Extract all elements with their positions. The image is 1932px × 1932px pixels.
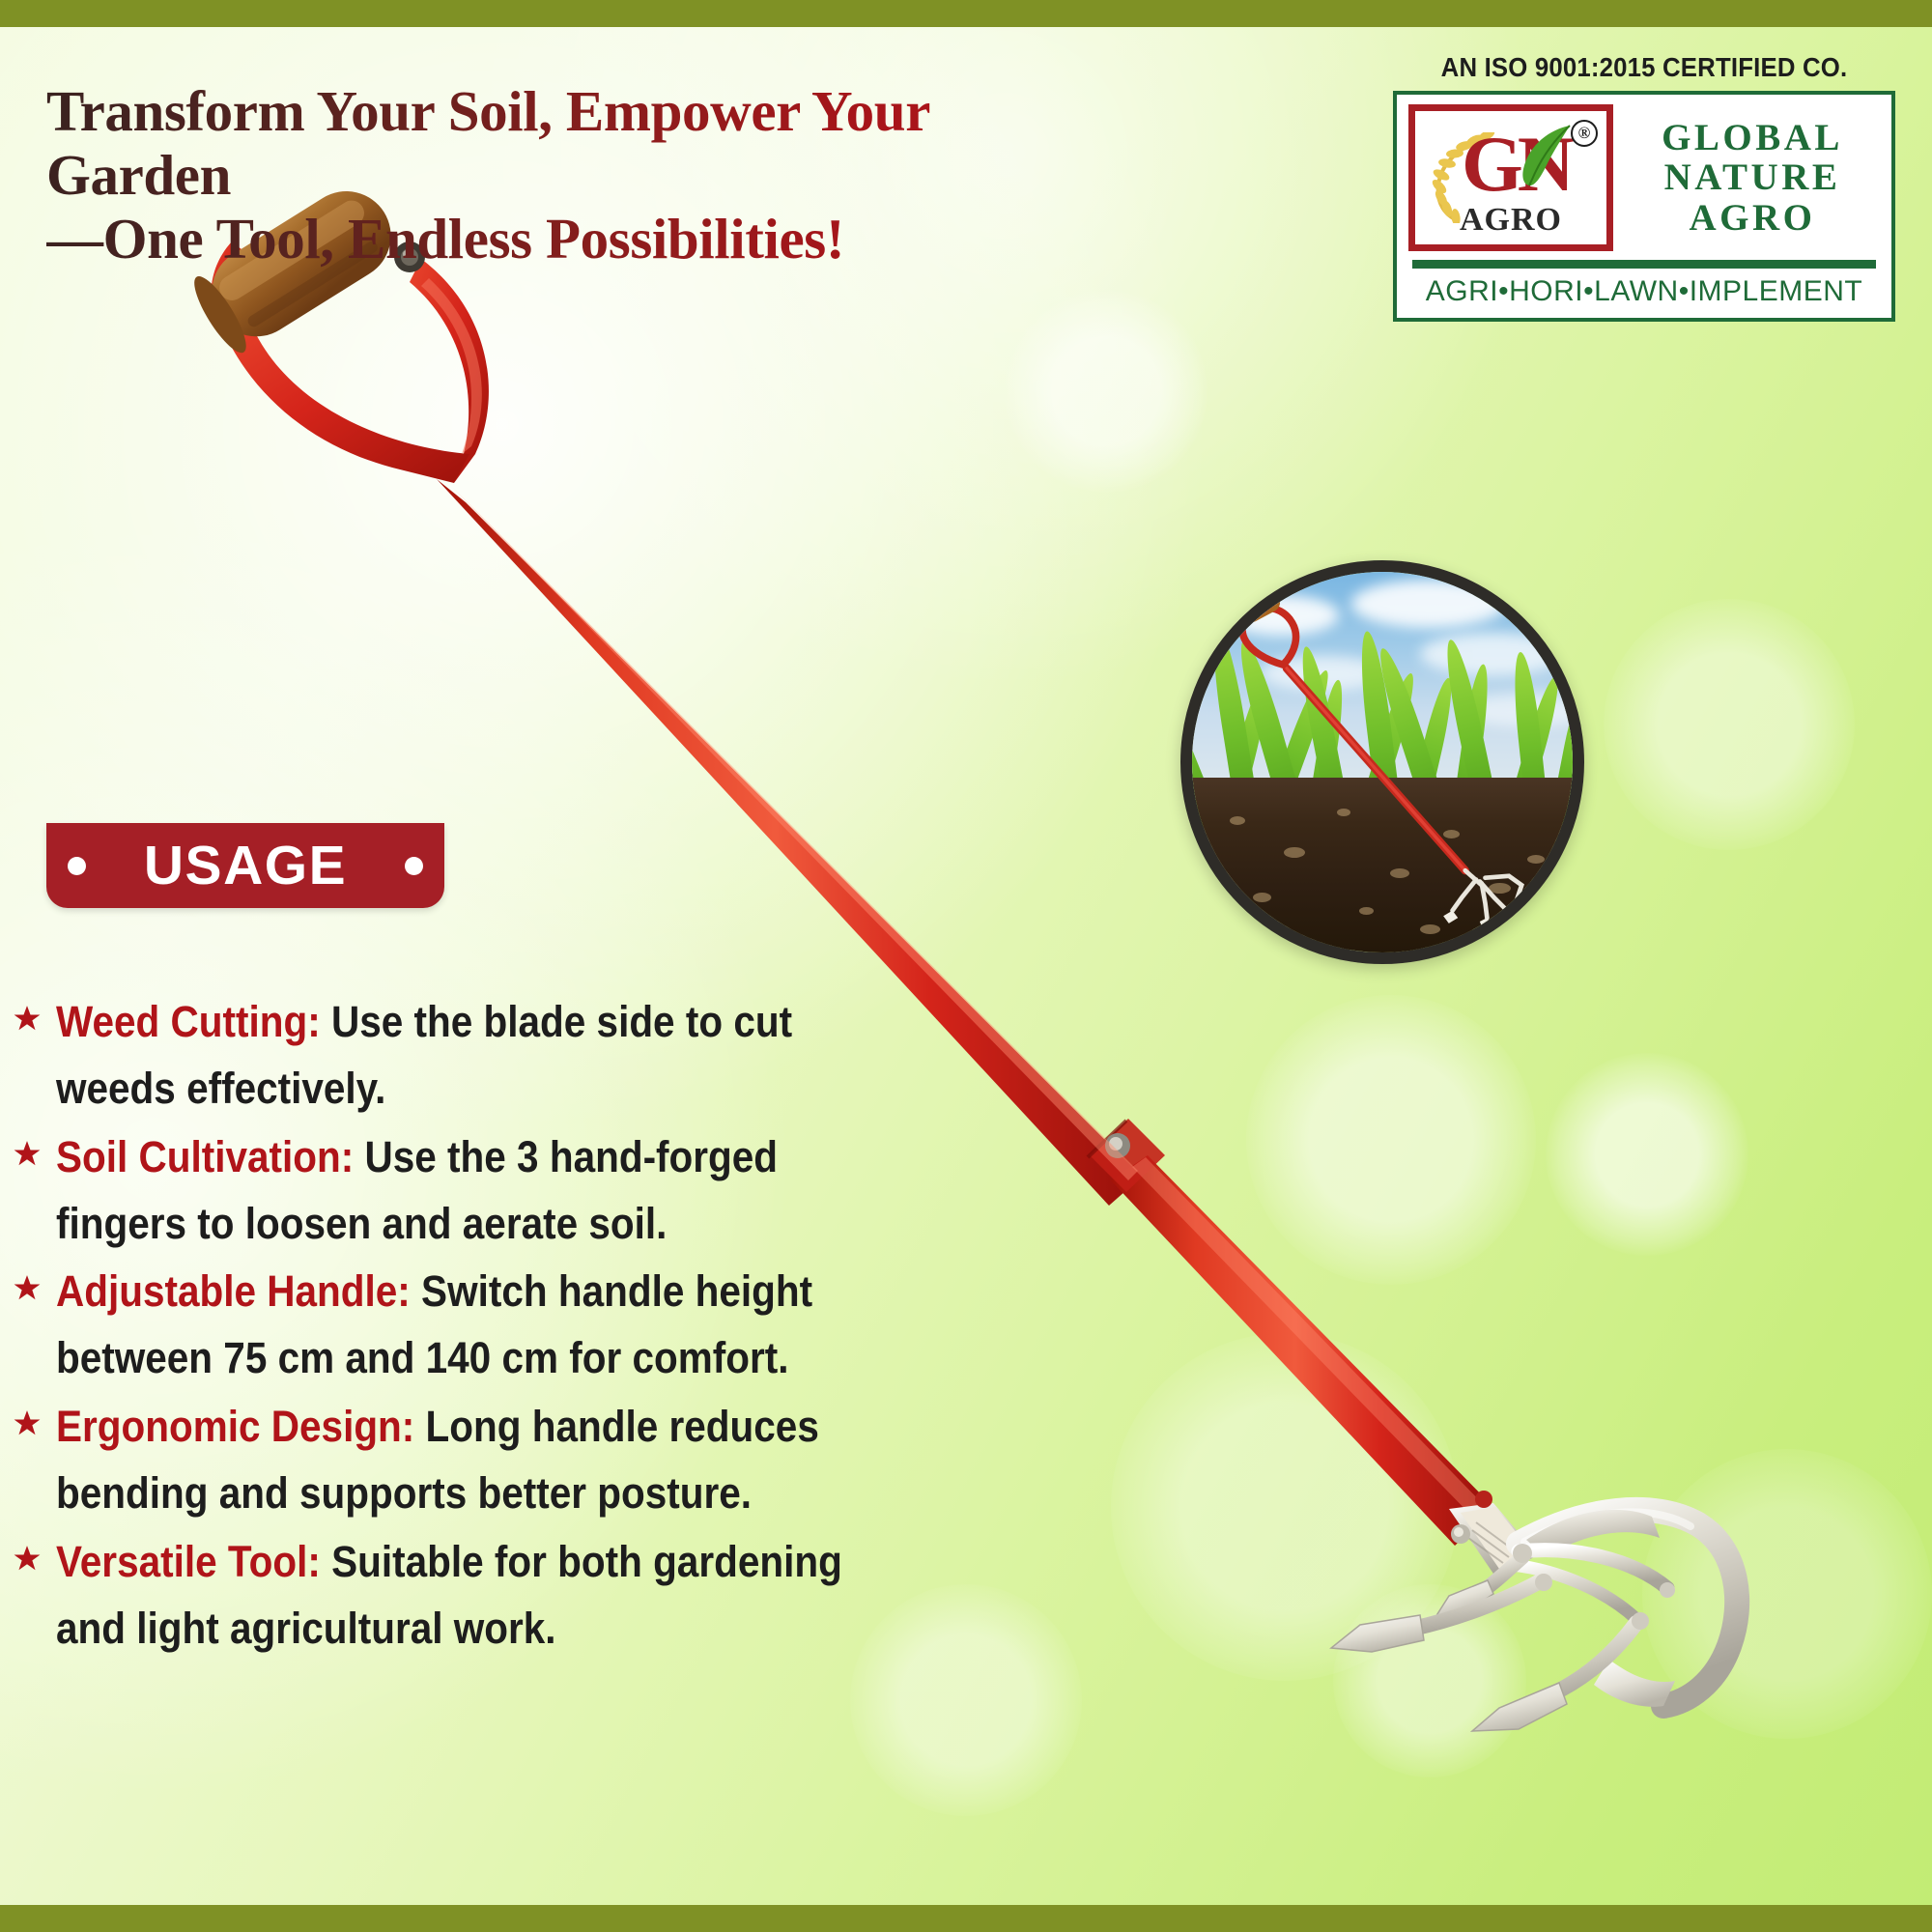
- usage-banner-label: USAGE: [144, 834, 347, 897]
- brand-line-2: NATURE: [1625, 157, 1880, 197]
- bokeh-circle: [1642, 1449, 1932, 1739]
- list-item: Ergonomic Design: Long handle reduces be…: [14, 1394, 1013, 1527]
- headline-line-2: —One Tool, Endless Possibilities!: [46, 207, 1099, 270]
- banner-dot-icon: [68, 857, 86, 875]
- list-item: Soil Cultivation: Use the 3 hand-forged …: [14, 1124, 1013, 1258]
- list-item: Versatile Tool: Suitable for both garden…: [14, 1529, 1013, 1662]
- bottom-border-band: [0, 1905, 1932, 1932]
- bokeh-circle: [1005, 290, 1207, 493]
- logo-box: GN ® AGRO GLOBAL NATURE AGRO AGRI•HORI•L…: [1393, 91, 1895, 322]
- brand-line-3: AGRO: [1625, 198, 1880, 238]
- list-item-text: Weed Cutting: Use the blade side to cut …: [56, 989, 918, 1122]
- headline-line-1: Transform Your Soil, Empower Your Garden: [46, 79, 929, 207]
- star-icon: [14, 989, 56, 1037]
- bokeh-circle: [1604, 599, 1855, 850]
- list-item-label: Soil Cultivation:: [56, 1132, 354, 1181]
- list-item-label: Weed Cutting:: [56, 997, 321, 1046]
- brand-line-1: GLOBAL: [1625, 118, 1880, 157]
- gn-logo-mark: GN ® AGRO: [1408, 104, 1613, 251]
- list-item-label: Ergonomic Design:: [56, 1402, 414, 1451]
- list-item-label: Adjustable Handle:: [56, 1266, 411, 1316]
- registered-trademark-icon: ®: [1571, 120, 1598, 147]
- bokeh-circle: [1111, 1333, 1459, 1681]
- list-item-label: Versatile Tool:: [56, 1537, 321, 1586]
- usage-list: Weed Cutting: Use the blade side to cut …: [14, 989, 1013, 1663]
- list-item-text: Adjustable Handle: Switch handle height …: [56, 1259, 918, 1392]
- brand-tagline: AGRI•HORI•LAWN•IMPLEMENT: [1408, 275, 1880, 310]
- list-item-text: Soil Cultivation: Use the 3 hand-forged …: [56, 1124, 918, 1258]
- list-item-text: Ergonomic Design: Long handle reduces be…: [56, 1394, 918, 1527]
- star-icon: [14, 1529, 56, 1577]
- usage-banner: USAGE: [46, 823, 444, 908]
- star-icon: [14, 1394, 56, 1441]
- star-icon: [14, 1124, 56, 1172]
- star-icon: [14, 1259, 56, 1306]
- cultivator-head: [1331, 1510, 1737, 1731]
- banner-dot-icon: [405, 857, 423, 875]
- shaft-ferrule-label: [1449, 1491, 1538, 1577]
- inset-cultivator-tool: [1192, 572, 1573, 952]
- shaft-adjust-bolt: [1105, 1133, 1130, 1158]
- logo-divider: [1412, 260, 1876, 269]
- list-item-text: Versatile Tool: Suitable for both garden…: [56, 1529, 918, 1662]
- logo-row: GN ® AGRO GLOBAL NATURE AGRO: [1408, 104, 1880, 251]
- bokeh-circle: [1546, 1053, 1748, 1256]
- brand-name: GLOBAL NATURE AGRO: [1625, 118, 1880, 238]
- infographic-page: Transform Your Soil, Empower Your Garden…: [0, 0, 1932, 1932]
- page-headline: Transform Your Soil, Empower Your Garden…: [46, 79, 1099, 270]
- brand-logo-block: AN ISO 9001:2015 CERTIFIED CO.: [1393, 52, 1895, 322]
- list-item: Adjustable Handle: Switch handle height …: [14, 1259, 1013, 1392]
- iso-certification-text: AN ISO 9001:2015 CERTIFIED CO.: [1413, 52, 1875, 83]
- d-handle-frame: [212, 241, 489, 483]
- tool-in-field-photo: [1180, 560, 1584, 964]
- gn-mark-agro-text: AGRO: [1415, 202, 1606, 239]
- top-border-band: [0, 0, 1932, 27]
- bokeh-circle: [1333, 1584, 1526, 1777]
- bokeh-circle: [1246, 995, 1536, 1285]
- leaf-icon: [1518, 123, 1574, 186]
- list-item: Weed Cutting: Use the blade side to cut …: [14, 989, 1013, 1122]
